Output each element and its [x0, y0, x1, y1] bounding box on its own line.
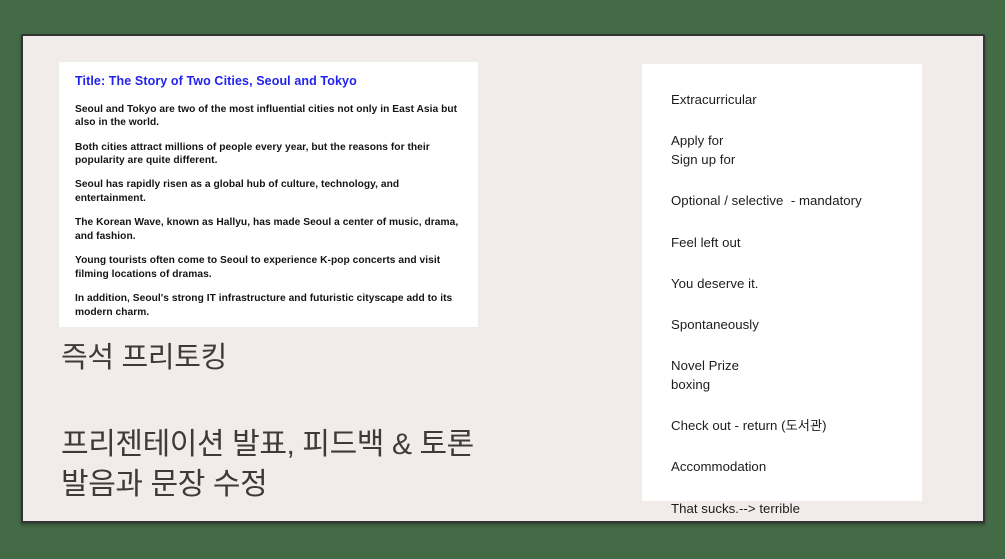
note-line: That sucks.--> terrible [671, 499, 922, 518]
note-line: boxing [671, 375, 922, 394]
note-line: Novel Prize [671, 356, 922, 375]
korean-heading-line-2: 프리젠테이션 발표, 피드백 & 토론 [61, 425, 621, 465]
note-line: Feel left out [671, 233, 922, 252]
document-paragraph: The Korean Wave, known as Hallyu, has ma… [75, 216, 462, 243]
document-body: Seoul and Tokyo are two of the most infl… [75, 103, 462, 319]
note-line: Apply for [671, 131, 922, 150]
document-panel: Title: The Story of Two Cities, Seoul an… [59, 62, 478, 327]
note-group: Check out - return (도서관) [671, 416, 922, 435]
note-group: Optional / selective - mandatory [671, 191, 922, 210]
document-title: Title: The Story of Two Cities, Seoul an… [75, 74, 462, 90]
korean-heading-group-2: 프리젠테이션 발표, 피드백 & 토론 발음과 문장 수정 [61, 425, 621, 504]
note-group: That sucks.--> terrible [671, 499, 922, 518]
note-group: You deserve it. [671, 274, 922, 293]
note-line: Spontaneously [671, 315, 922, 334]
note-group: Extracurricular [671, 90, 922, 109]
note-line: Extracurricular [671, 90, 922, 109]
korean-heading-line-1: 즉석 프리토킹 [61, 341, 621, 375]
notes-panel: ExtracurricularApply forSign up forOptio… [642, 64, 922, 501]
note-group: Accommodation [671, 457, 922, 476]
note-line: Optional / selective - mandatory [671, 191, 922, 210]
note-line: You deserve it. [671, 274, 922, 293]
note-group: Apply forSign up for [671, 131, 922, 169]
note-group: Spontaneously [671, 315, 922, 334]
document-paragraph: In addition, Seoul's strong IT infrastru… [75, 292, 462, 319]
korean-heading-block: 즉석 프리토킹 프리젠테이션 발표, 피드백 & 토론 발음과 문장 수정 [61, 341, 621, 504]
note-line: Sign up for [671, 150, 922, 169]
note-group: Novel Prizeboxing [671, 356, 922, 394]
note-line: Accommodation [671, 457, 922, 476]
document-paragraph: Young tourists often come to Seoul to ex… [75, 254, 462, 281]
note-group: Feel left out [671, 233, 922, 252]
document-paragraph: Seoul and Tokyo are two of the most infl… [75, 103, 462, 130]
slide-card: Title: The Story of Two Cities, Seoul an… [21, 34, 985, 523]
note-line: Check out - return (도서관) [671, 416, 922, 435]
korean-heading-line-3: 발음과 문장 수정 [61, 465, 621, 505]
document-paragraph: Seoul has rapidly risen as a global hub … [75, 178, 462, 205]
document-paragraph: Both cities attract millions of people e… [75, 141, 462, 168]
